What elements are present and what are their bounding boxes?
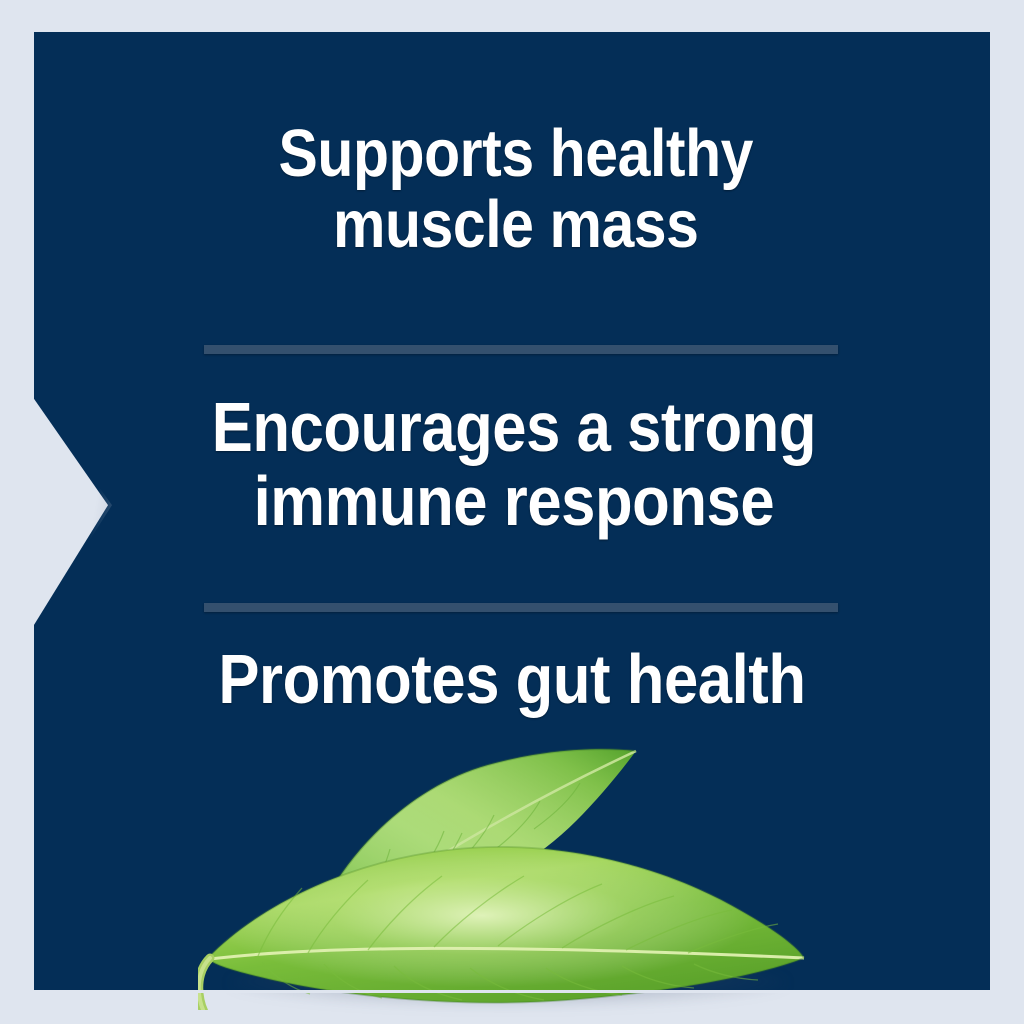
panel-bottom-edge xyxy=(34,990,990,993)
benefit-divider xyxy=(204,603,838,612)
leaf-pair-image xyxy=(190,745,830,1024)
benefits-graphic: Supports healthy muscle mass Encourages … xyxy=(0,0,1024,1024)
benefit-line: Encourages a strong xyxy=(93,390,934,464)
benefit-line: Supports healthy xyxy=(95,118,936,189)
benefit-divider xyxy=(204,345,838,354)
benefit-line: muscle mass xyxy=(95,189,936,260)
leaf-front-icon xyxy=(198,840,808,1010)
benefit-item-muscle-mass: Supports healthy muscle mass xyxy=(92,118,937,260)
benefit-item-immune-response: Encourages a strong immune response xyxy=(91,390,934,538)
benefit-line: Promotes gut health xyxy=(91,642,932,716)
benefit-line: immune response xyxy=(93,464,934,538)
benefit-item-gut-health: Promotes gut health xyxy=(91,642,932,716)
